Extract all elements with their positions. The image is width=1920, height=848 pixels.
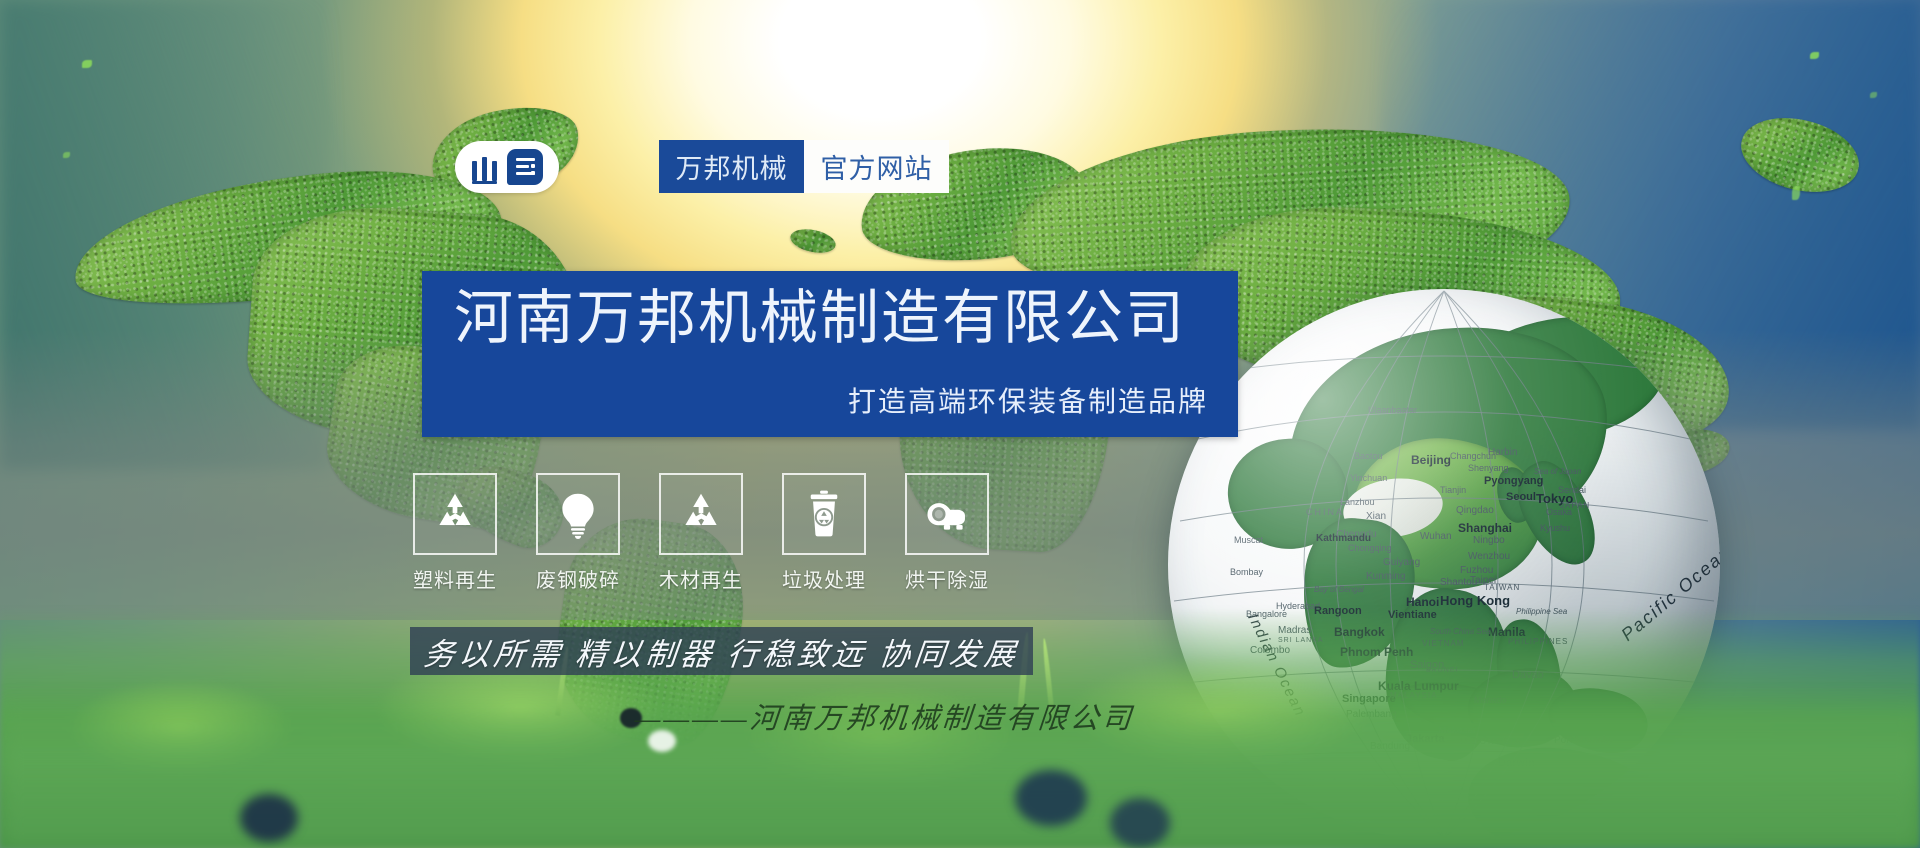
berry-decoration [240, 794, 298, 842]
berry-decoration [1015, 770, 1087, 826]
service-label: 塑料再生 [413, 564, 497, 593]
globe-label: Bombay [1230, 567, 1263, 577]
service-tile[interactable] [782, 473, 866, 555]
page-title: 河南万邦机械制造有限公司 [454, 287, 1186, 351]
globe-country-label: TAIWAN [1484, 583, 1520, 592]
leaf-fleck [1792, 186, 1800, 200]
island-mid-atlantic [788, 225, 838, 256]
site-header: 万邦机械 官方网站 [455, 140, 949, 193]
logo-b-speech-bubble-icon [507, 149, 543, 185]
lightbulb-icon [552, 489, 604, 539]
island-northeast [1733, 107, 1866, 204]
signature-text: ————河南万邦机械制造有限公司 [633, 695, 1136, 737]
service-item-drying-dehumidifying[interactable]: 烘干除湿 [905, 473, 989, 593]
recycle-icon [429, 489, 481, 539]
service-tile[interactable] [659, 473, 743, 555]
leaf-fleck [1870, 92, 1877, 98]
tab-official-website[interactable]: 官方网站 [804, 140, 949, 193]
service-label: 废钢破碎 [536, 564, 620, 593]
header-tabs: 万邦机械 官方网站 [659, 140, 949, 193]
service-label: 木材再生 [659, 564, 743, 593]
leaf-fleck [1810, 52, 1819, 59]
service-item-wood-recycling[interactable]: 木材再生 [659, 473, 743, 593]
company-title-banner: 河南万邦机械制造有限公司 打造高端环保装备制造品牌 [422, 271, 1238, 437]
service-item-scrap-steel-crushing[interactable]: 废钢破碎 [536, 473, 620, 593]
leaf-fleck [63, 152, 70, 158]
service-tile[interactable] [413, 473, 497, 555]
service-label: 垃圾处理 [782, 564, 866, 593]
logo-w-icon [471, 153, 501, 181]
service-tile[interactable] [536, 473, 620, 555]
company-logo[interactable] [455, 141, 559, 193]
service-item-plastic-recycling[interactable]: 塑料再生 [413, 473, 497, 593]
leaf-fleck [82, 60, 92, 68]
service-item-waste-treatment[interactable]: 垃圾处理 [782, 473, 866, 593]
dryer-blower-icon [921, 489, 973, 539]
service-label: 烘干除湿 [905, 564, 989, 593]
hero-banner: Ulaanbaatar Beijing Baotou Yinchuan Lanz… [0, 0, 1920, 848]
tab-wanbang-machinery[interactable]: 万邦机械 [659, 140, 804, 193]
berry-decoration [1110, 798, 1170, 848]
service-icon-row: 塑料再生 废钢破碎 [413, 473, 989, 593]
service-tile[interactable] [905, 473, 989, 555]
trash-bin-icon [798, 489, 850, 539]
slogan-bar: 务以所需 精以制器 行稳致远 协同发展 [410, 627, 1033, 675]
recycle-icon [675, 489, 727, 539]
slogan-text: 务以所需 精以制器 行稳致远 协同发展 [422, 629, 1022, 674]
page-subtitle: 打造高端环保装备制造品牌 [848, 380, 1208, 420]
